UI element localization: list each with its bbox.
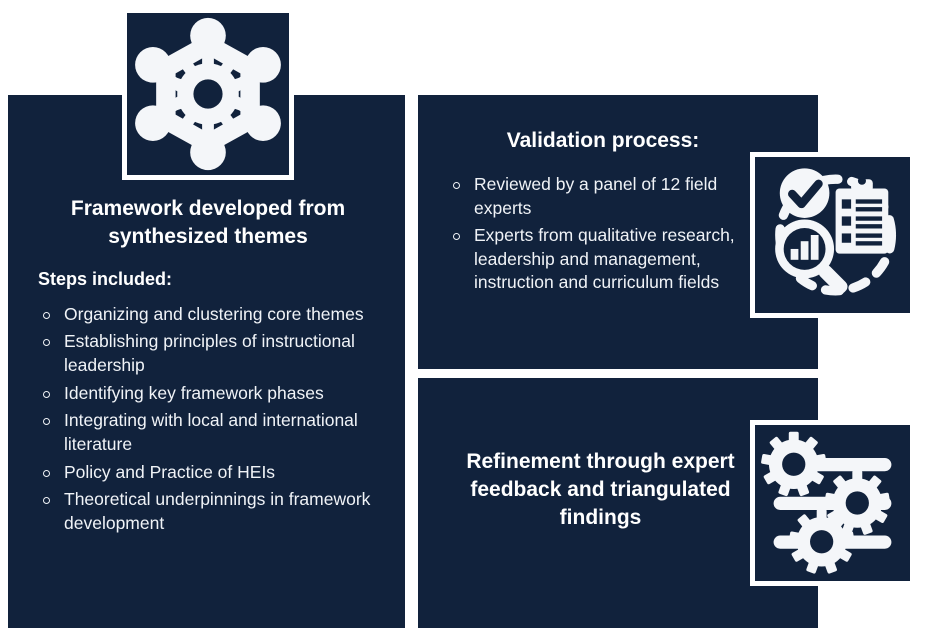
refinement-panel-title: Refinement through expert feedback and t… (458, 448, 743, 532)
validation-list: Reviewed by a panel of 12 field experts … (448, 173, 758, 295)
infographic-stage: Framework developed from synthesized the… (0, 0, 935, 644)
framework-panel-content: Framework developed from synthesized the… (38, 195, 378, 539)
refinement-panel-content: Refinement through expert feedback and t… (458, 448, 743, 532)
list-item: Reviewed by a panel of 12 field experts (448, 173, 758, 220)
check-circle-icon (780, 168, 830, 218)
settings-sliders-gears-icon-tile (750, 420, 915, 586)
network-hexagon-gear-icon (127, 13, 289, 175)
slider-gear-knob-3 (789, 509, 855, 574)
network-hexagon-gear-icon-tile (122, 8, 294, 180)
clipboard-icon (836, 177, 889, 254)
list-item: Integrating with local and international… (38, 409, 378, 456)
steps-included-heading: Steps included: (38, 269, 378, 290)
checklist-validation-icon (755, 157, 910, 313)
slider-gear-knob-1 (761, 432, 827, 497)
checklist-validation-icon-tile (750, 152, 915, 318)
framework-steps-list: Organizing and clustering core themes Es… (38, 303, 378, 536)
list-item: Theoretical underpinnings in framework d… (38, 488, 378, 535)
settings-sliders-gears-icon (755, 425, 910, 581)
list-item: Identifying key framework phases (38, 382, 378, 406)
framework-panel-title: Framework developed from synthesized the… (38, 195, 378, 251)
list-item: Establishing principles of instructional… (38, 330, 378, 377)
validation-panel-content: Validation process: Reviewed by a panel … (448, 127, 758, 299)
list-item: Experts from qualitative research, leade… (448, 224, 758, 295)
list-item: Policy and Practice of HEIs (38, 461, 378, 485)
list-item: Organizing and clustering core themes (38, 303, 378, 327)
validation-panel-title: Validation process: (448, 127, 758, 155)
